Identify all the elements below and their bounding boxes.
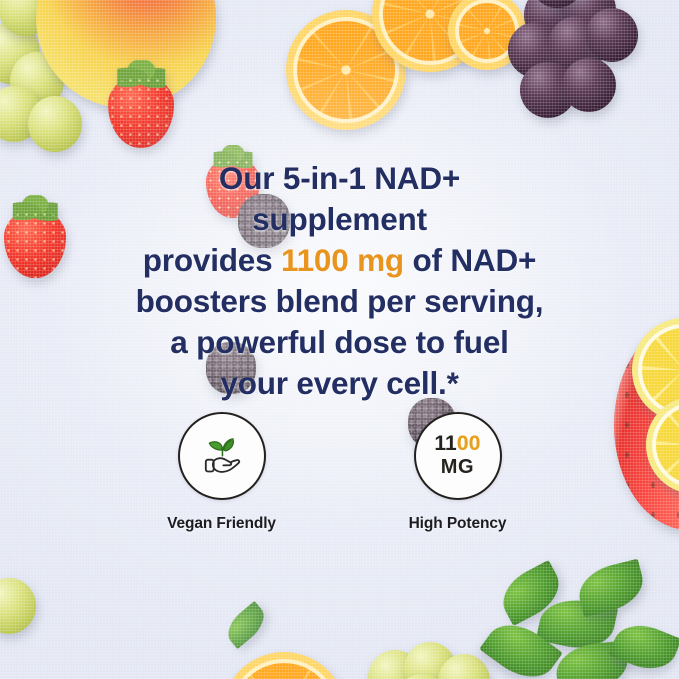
dosage-unit: MG — [434, 456, 480, 478]
hand-holding-sprout-icon — [194, 426, 250, 487]
dosage-amount-prefix: 11 — [434, 432, 457, 455]
headline-line-6: your every cell.* — [64, 363, 615, 404]
green-grapes — [0, 578, 36, 634]
dosage-circle-icon: 1100 MG — [434, 433, 480, 478]
headline-line-3: provides 1100 mg of NAD+ — [64, 240, 615, 281]
strawberry — [108, 76, 174, 148]
headline-line-4: boosters blend per serving, — [64, 281, 615, 322]
headline-line-2: supplement — [64, 199, 615, 240]
dosage-highlight: 1100 mg — [281, 242, 404, 278]
headline-line-1: Our 5-in-1 NAD+ — [64, 158, 615, 199]
purple-grapes — [586, 8, 638, 62]
badge-vegan-circle — [178, 412, 266, 500]
badge-row: Vegan Friendly 1100 MG High Potency — [0, 412, 679, 533]
badge-potency-circle: 1100 MG — [414, 412, 502, 500]
mint-leaves — [221, 601, 271, 649]
dosage-amount-capsules: 00 — [457, 432, 481, 455]
mint-leaves — [574, 559, 649, 618]
headline-line-3-post: of NAD+ — [404, 242, 536, 278]
badge-high-potency: 1100 MG High Potency — [383, 412, 533, 533]
badge-vegan-label: Vegan Friendly — [167, 515, 276, 533]
page-title: Our 5-in-1 NAD+ supplement provides 1100… — [0, 158, 679, 404]
badge-vegan-friendly: Vegan Friendly — [147, 412, 297, 533]
purple-grapes — [562, 58, 616, 112]
badge-potency-label: High Potency — [409, 515, 507, 533]
grapefruit-slice — [222, 652, 346, 679]
headline-line-3-pre: provides — [143, 242, 281, 278]
green-grapes — [28, 96, 82, 152]
headline-line-5: a powerful dose to fuel — [64, 322, 615, 363]
product-infographic: Our 5-in-1 NAD+ supplement provides 1100… — [0, 0, 679, 679]
dosage-amount: 1100 — [434, 433, 480, 454]
